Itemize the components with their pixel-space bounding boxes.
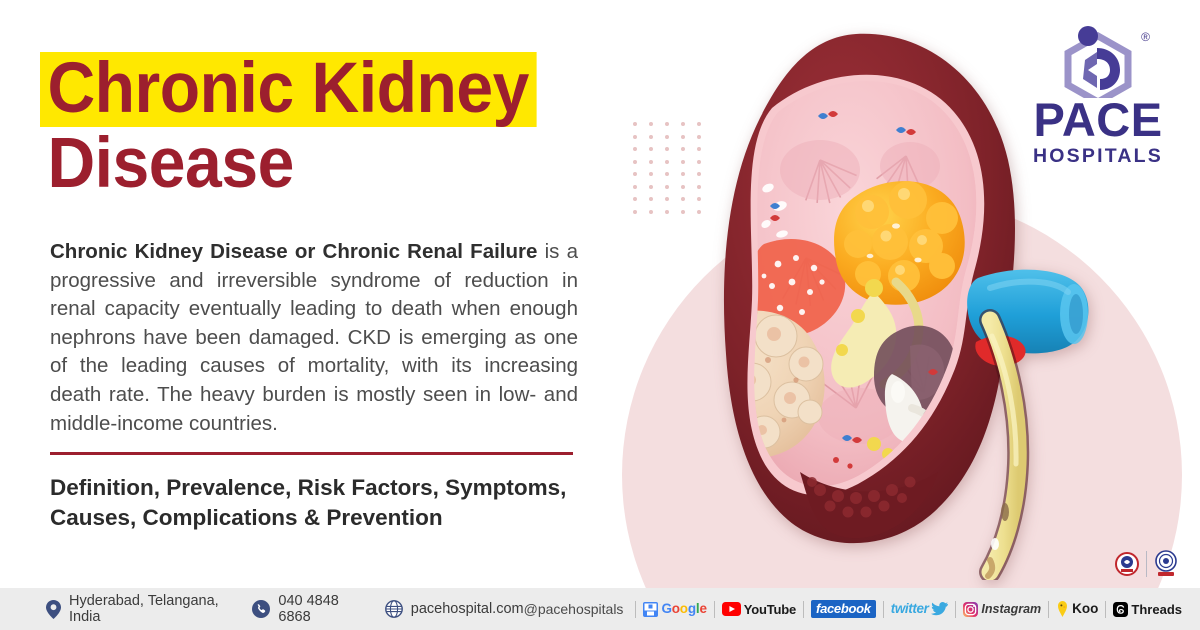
social-divider [714,601,715,618]
twitter-label: twitter [891,602,929,616]
logo-hospitals-text: HOSPITALS [1018,145,1178,168]
nabh-badge-right-icon [1154,550,1178,578]
page-title-line2: Disease [40,127,301,202]
footer-bar: Hyderabad, Telangana, India 040 4848 686… [0,588,1200,630]
body-rest-text: is a progressive and irreversible syndro… [50,240,578,435]
youtube-icon [722,602,741,616]
koo-label: Koo [1072,602,1098,616]
instagram-icon [963,602,978,617]
phone-icon [252,600,270,618]
pace-hexagon-figure-logo: ® [1018,24,1178,98]
google-icon [643,602,658,617]
google-label: Google [661,602,706,616]
instagram-label: Instagram [981,603,1041,616]
registered-trademark-mark: ® [1141,30,1150,44]
footer-website-text: pacehospital.com [411,601,524,617]
social-instagram[interactable]: Instagram [963,602,1041,617]
footer-contact-group: Hyderabad, Telangana, India 040 4848 686… [0,593,524,625]
body-lead-phrase: Chronic Kidney Disease or Chronic Renal … [50,240,537,263]
social-twitter[interactable]: twitter [891,602,949,616]
threads-label: Threads [1131,603,1182,616]
footer-website[interactable]: pacehospital.com [385,600,524,618]
footer-location: Hyderabad, Telangana, India [46,593,226,625]
social-youtube[interactable]: YouTube [722,602,796,616]
brand-logo: ® PACE HOSPITALS [1018,24,1178,168]
topics-subtitle: Definition, Prevalence, Risk Factors, Sy… [50,473,580,533]
map-pin-icon [46,600,61,619]
logo-pace-text: PACE [1018,98,1178,143]
social-divider [883,601,884,618]
youtube-label: YouTube [744,603,796,616]
social-koo[interactable]: Koo [1056,601,1098,617]
social-divider [1048,601,1049,618]
social-divider [635,601,636,618]
social-divider [803,601,804,618]
body-paragraph: Chronic Kidney Disease or Chronic Renal … [50,238,578,438]
content-area: Chronic Kidney Disease Chronic Kidney Di… [0,0,600,588]
section-divider [50,452,573,455]
nabh-badge-left-icon [1115,552,1139,576]
social-divider [1105,601,1106,618]
accreditation-badges [1115,550,1178,578]
footer-social-group: @pacehospitals Google YouTube facebook t… [524,600,1200,619]
page-title-line1: Chronic Kidney [40,52,536,127]
visual-area: ® PACE HOSPITALS [600,0,1200,588]
twitter-bird-icon [931,602,948,616]
badge-divider [1146,551,1147,577]
social-facebook[interactable]: facebook [811,600,876,619]
social-divider [955,601,956,618]
footer-location-text: Hyderabad, Telangana, India [69,593,226,625]
koo-bird-icon [1056,601,1069,617]
social-google[interactable]: Google [643,602,706,617]
footer-phone: 040 4848 6868 [252,593,358,625]
threads-icon [1113,602,1128,617]
social-handle: @pacehospitals [524,601,624,617]
page-title: Chronic Kidney Disease [48,52,588,203]
social-threads[interactable]: Threads [1113,602,1182,617]
globe-icon [385,600,403,618]
footer-phone-text: 040 4848 6868 [278,593,358,625]
